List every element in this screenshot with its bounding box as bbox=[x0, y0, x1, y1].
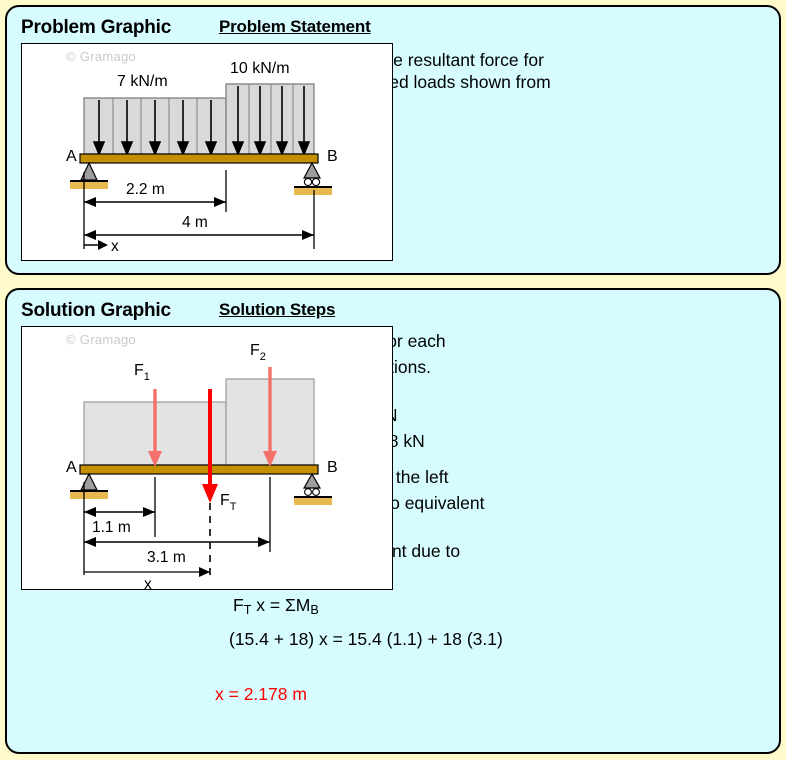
watermark-solution: © Gramago bbox=[66, 332, 136, 347]
solution-support-b-roller bbox=[294, 474, 332, 505]
solution-label-support-a: A bbox=[66, 459, 77, 476]
label-force-f2: F2 bbox=[250, 342, 266, 363]
page-root: Problem Graphic Problem Statement Give t… bbox=[0, 0, 786, 760]
support-b-roller bbox=[294, 163, 332, 195]
watermark-problem: © Gramago bbox=[66, 49, 136, 64]
solution-figure: © Gramago bbox=[21, 326, 393, 590]
label-load-10: 10 kN/m bbox=[230, 60, 290, 77]
dimension-x: x bbox=[84, 567, 210, 589]
solution-label-support-b: B bbox=[327, 459, 338, 476]
problem-figure: © Gramago bbox=[21, 43, 393, 261]
label-support-a: A bbox=[66, 148, 77, 165]
final-answer: x = 2.178 m bbox=[215, 684, 307, 705]
steps-equation-4: (15.4 + 18) x = 15.4 (1.1) + 18 (3.1) bbox=[229, 628, 503, 650]
beam bbox=[80, 154, 318, 163]
problem-graphic-title: Problem Graphic bbox=[21, 17, 171, 39]
eq3-body: x = ΣM bbox=[251, 595, 310, 615]
label-dim-x: x bbox=[144, 576, 152, 589]
eq3-symbol-f: F bbox=[233, 595, 244, 615]
dimension-1p1m: 1.1 m bbox=[84, 507, 155, 536]
solution-beam bbox=[80, 465, 318, 474]
solution-graphic-title: Solution Graphic bbox=[21, 300, 171, 322]
eq3-subscript-b: B bbox=[310, 603, 318, 617]
solution-support-a-pin bbox=[70, 474, 108, 499]
label-load-7: 7 kN/m bbox=[117, 73, 168, 90]
solution-steps-title: Solution Steps bbox=[219, 300, 335, 320]
dimension-4m: 4 m bbox=[84, 214, 314, 240]
label-force-ft: FT bbox=[220, 492, 237, 513]
label-force-f1: F1 bbox=[134, 362, 150, 383]
label-dim-1p1m: 1.1 m bbox=[92, 519, 131, 536]
label-dim-3p1m: 3.1 m bbox=[147, 549, 186, 566]
solution-panel: Solution Graphic Solution Steps Use equi… bbox=[5, 288, 781, 754]
label-dim-4m: 4 m bbox=[182, 214, 208, 231]
label-dim-2p2m: 2.2 m bbox=[126, 181, 165, 198]
solution-beam-diagram: A B F1 F2 FT bbox=[22, 327, 392, 589]
support-a-pin bbox=[70, 163, 108, 189]
problem-panel: Problem Graphic Problem Statement Give t… bbox=[5, 5, 781, 275]
label-support-b: B bbox=[327, 148, 338, 165]
x-axis-arrow: x bbox=[84, 238, 119, 255]
problem-statement-title: Problem Statement bbox=[219, 17, 371, 37]
label-axis-x: x bbox=[111, 238, 119, 255]
dimension-3p1m: 3.1 m bbox=[84, 537, 270, 566]
problem-beam-diagram: A B 7 kN/m 10 kN/m 2.2 m bbox=[22, 44, 392, 260]
